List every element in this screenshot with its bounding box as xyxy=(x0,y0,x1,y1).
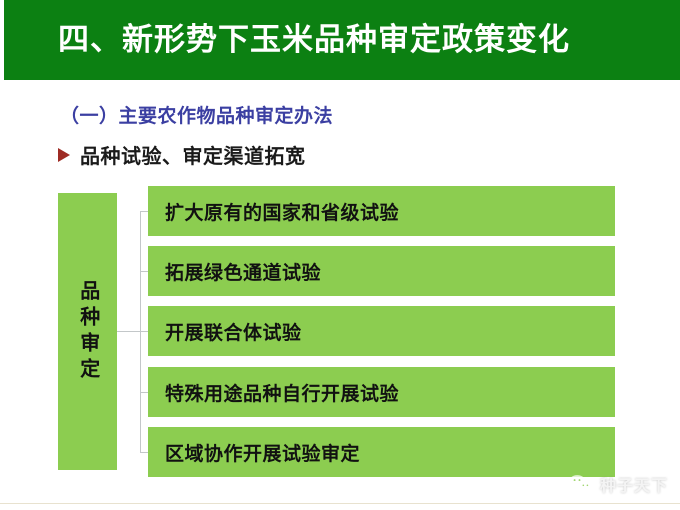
connector-root-stub xyxy=(117,331,140,332)
diagram-leaf-box[interactable]: 区域协作开展试验审定 xyxy=(148,427,615,477)
section-subtitle: （一）主要农作物品种审定办法 xyxy=(60,101,333,128)
diagram-leaf-label: 拓展绿色通道试验 xyxy=(148,258,321,285)
arrow-right-icon xyxy=(58,148,70,162)
diagram-leaf-box[interactable]: 扩大原有的国家和省级试验 xyxy=(148,186,615,236)
diagram-root-box[interactable]: 品种审定 xyxy=(58,193,117,470)
diagram-leaf-label: 特殊用途品种自行开展试验 xyxy=(148,379,399,406)
watermark: 种子天下 xyxy=(568,472,668,496)
diagram-leaf-box[interactable]: 拓展绿色通道试验 xyxy=(148,246,615,296)
diagram-leaf-box[interactable]: 开展联合体试验 xyxy=(148,306,615,356)
page-title: 四、新形势下玉米品种审定政策变化 xyxy=(58,23,570,57)
title-banner: 四、新形势下玉米品种审定政策变化 xyxy=(4,0,680,80)
bullet-label: 品种试验、审定渠道拓宽 xyxy=(80,140,306,169)
diagram-root-label: 品种审定 xyxy=(71,280,103,384)
watermark-label: 种子天下 xyxy=(600,472,668,496)
left-edge-rule xyxy=(0,0,4,510)
bullet-row: 品种试验、审定渠道拓宽 xyxy=(58,140,306,169)
diagram-leaf-label: 开展联合体试验 xyxy=(148,318,302,345)
diagram-leaf-label: 区域协作开展试验审定 xyxy=(148,439,360,466)
slide-canvas: 四、新形势下玉米品种审定政策变化 （一）主要农作物品种审定办法 品种试验、审定渠… xyxy=(0,0,680,510)
diagram-leaf-box[interactable]: 特殊用途品种自行开展试验 xyxy=(148,367,615,417)
bottom-edge-rule xyxy=(0,503,680,504)
connector-spine xyxy=(140,211,141,452)
diagram-leaf-label: 扩大原有的国家和省级试验 xyxy=(148,198,399,225)
wechat-icon xyxy=(568,474,594,494)
